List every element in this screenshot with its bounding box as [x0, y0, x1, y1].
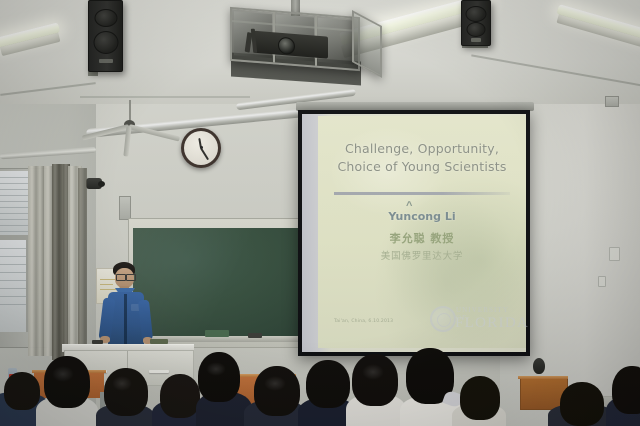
fan-rod [129, 100, 131, 122]
poster-line [100, 289, 116, 290]
audience-head [352, 354, 398, 406]
slide-footer-text: Tai'an, China, 6.10.2013 [334, 319, 393, 324]
wall-conduit-box [119, 196, 131, 220]
audience-head [254, 366, 300, 416]
audience-head [612, 366, 640, 414]
classroom-lecture-photo: Challenge, Opportunity, Choice of Young … [0, 0, 640, 426]
audience-head [160, 374, 200, 418]
presenter-shirt-placket [124, 294, 127, 348]
desk-drawer-handle [149, 370, 169, 373]
presenter-glasses [126, 274, 136, 281]
desk-object [92, 340, 103, 344]
side-desk-edge [518, 376, 568, 379]
audience-head [306, 360, 350, 408]
hair-highlight [264, 376, 286, 391]
speaker-cone [466, 6, 487, 22]
camera-lens [98, 181, 105, 187]
speaker-cone [94, 9, 117, 27]
slide-divider-rule [334, 192, 510, 195]
university-of-florida-logo: UNIVERSITY OF FLORIDA [430, 300, 522, 336]
slide-affiliation-cn: 美国佛罗里达大学 [318, 248, 526, 262]
window-curtain-dark [78, 168, 87, 348]
audience-head [460, 376, 500, 420]
hair-highlight [112, 376, 132, 391]
poster-line [100, 279, 116, 280]
blackboard-sheen [133, 228, 309, 336]
chalk-box [205, 330, 229, 337]
hair-highlight [362, 364, 384, 380]
window-curtain-light [28, 166, 54, 356]
speaker-badge [471, 38, 481, 42]
window-pane-lower [0, 240, 26, 332]
audience-head [104, 368, 148, 416]
hanging-object [533, 358, 545, 374]
projected-slide: Challenge, Opportunity, Choice of Young … [318, 116, 526, 348]
wall-outlet [609, 247, 620, 261]
speaker-cone [93, 31, 118, 54]
wall-speaker-right [461, 0, 491, 46]
speaker-badge [99, 59, 113, 63]
audience-head [4, 372, 40, 410]
ceiling-projector-cage [230, 7, 360, 71]
poster-line [100, 284, 113, 285]
wall-speaker-left [88, 0, 123, 72]
window-pane-upper [0, 171, 30, 235]
slide-presenter-name: Yuncong Li [318, 210, 526, 223]
speaker-cone [467, 22, 486, 37]
uf-seal-icon [430, 306, 456, 332]
blackboard-eraser [248, 333, 262, 338]
clock-face [184, 131, 218, 165]
projector-lens [278, 37, 295, 55]
uf-seal-inner-ring [437, 313, 451, 327]
audience-head [44, 356, 90, 408]
clock-center [200, 146, 203, 149]
uf-logo-line-2: FLORIDA [455, 315, 529, 332]
clock-minute-hand [200, 147, 209, 160]
wall-fixture [605, 96, 619, 107]
audience-head [560, 382, 604, 426]
hair-highlight [52, 366, 74, 382]
slide-title-line-2: Choice of Young Scientists [322, 158, 522, 176]
slide-presenter-name-cn: 李允聪 教授 [318, 230, 526, 246]
slide-title-line-1: Challenge, Opportunity, [326, 140, 518, 158]
presenter-glasses [116, 274, 126, 281]
ceiling-seam [80, 96, 250, 98]
audience-head [198, 352, 240, 402]
desk-object [150, 339, 168, 344]
blackboard [133, 228, 309, 336]
wall-outlet [598, 276, 606, 287]
hair-highlight [206, 362, 226, 376]
